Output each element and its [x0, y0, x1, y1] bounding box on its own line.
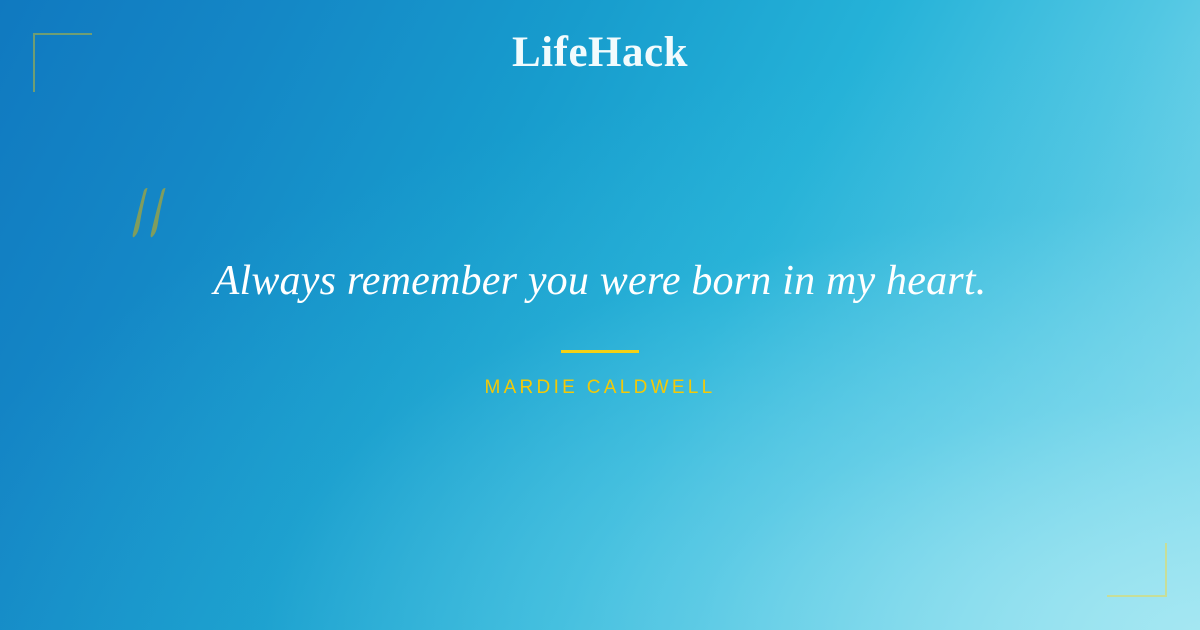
quote-divider — [561, 350, 639, 353]
corner-bracket-icon-bottom-right — [1107, 543, 1167, 597]
double-quote-icon — [131, 186, 177, 246]
double-quote-glyph — [131, 186, 177, 246]
quote-text: Always remember you were born in my hear… — [214, 256, 987, 307]
quote-block: Always remember you were born in my hear… — [0, 256, 1200, 399]
quote-card: LifeHack Always remember you were born i… — [0, 0, 1200, 630]
brand-logo: LifeHack — [0, 0, 1200, 104]
quote-author: MARDIE CALDWELL — [484, 377, 715, 399]
brand-logo-text: LifeHack — [512, 31, 688, 74]
